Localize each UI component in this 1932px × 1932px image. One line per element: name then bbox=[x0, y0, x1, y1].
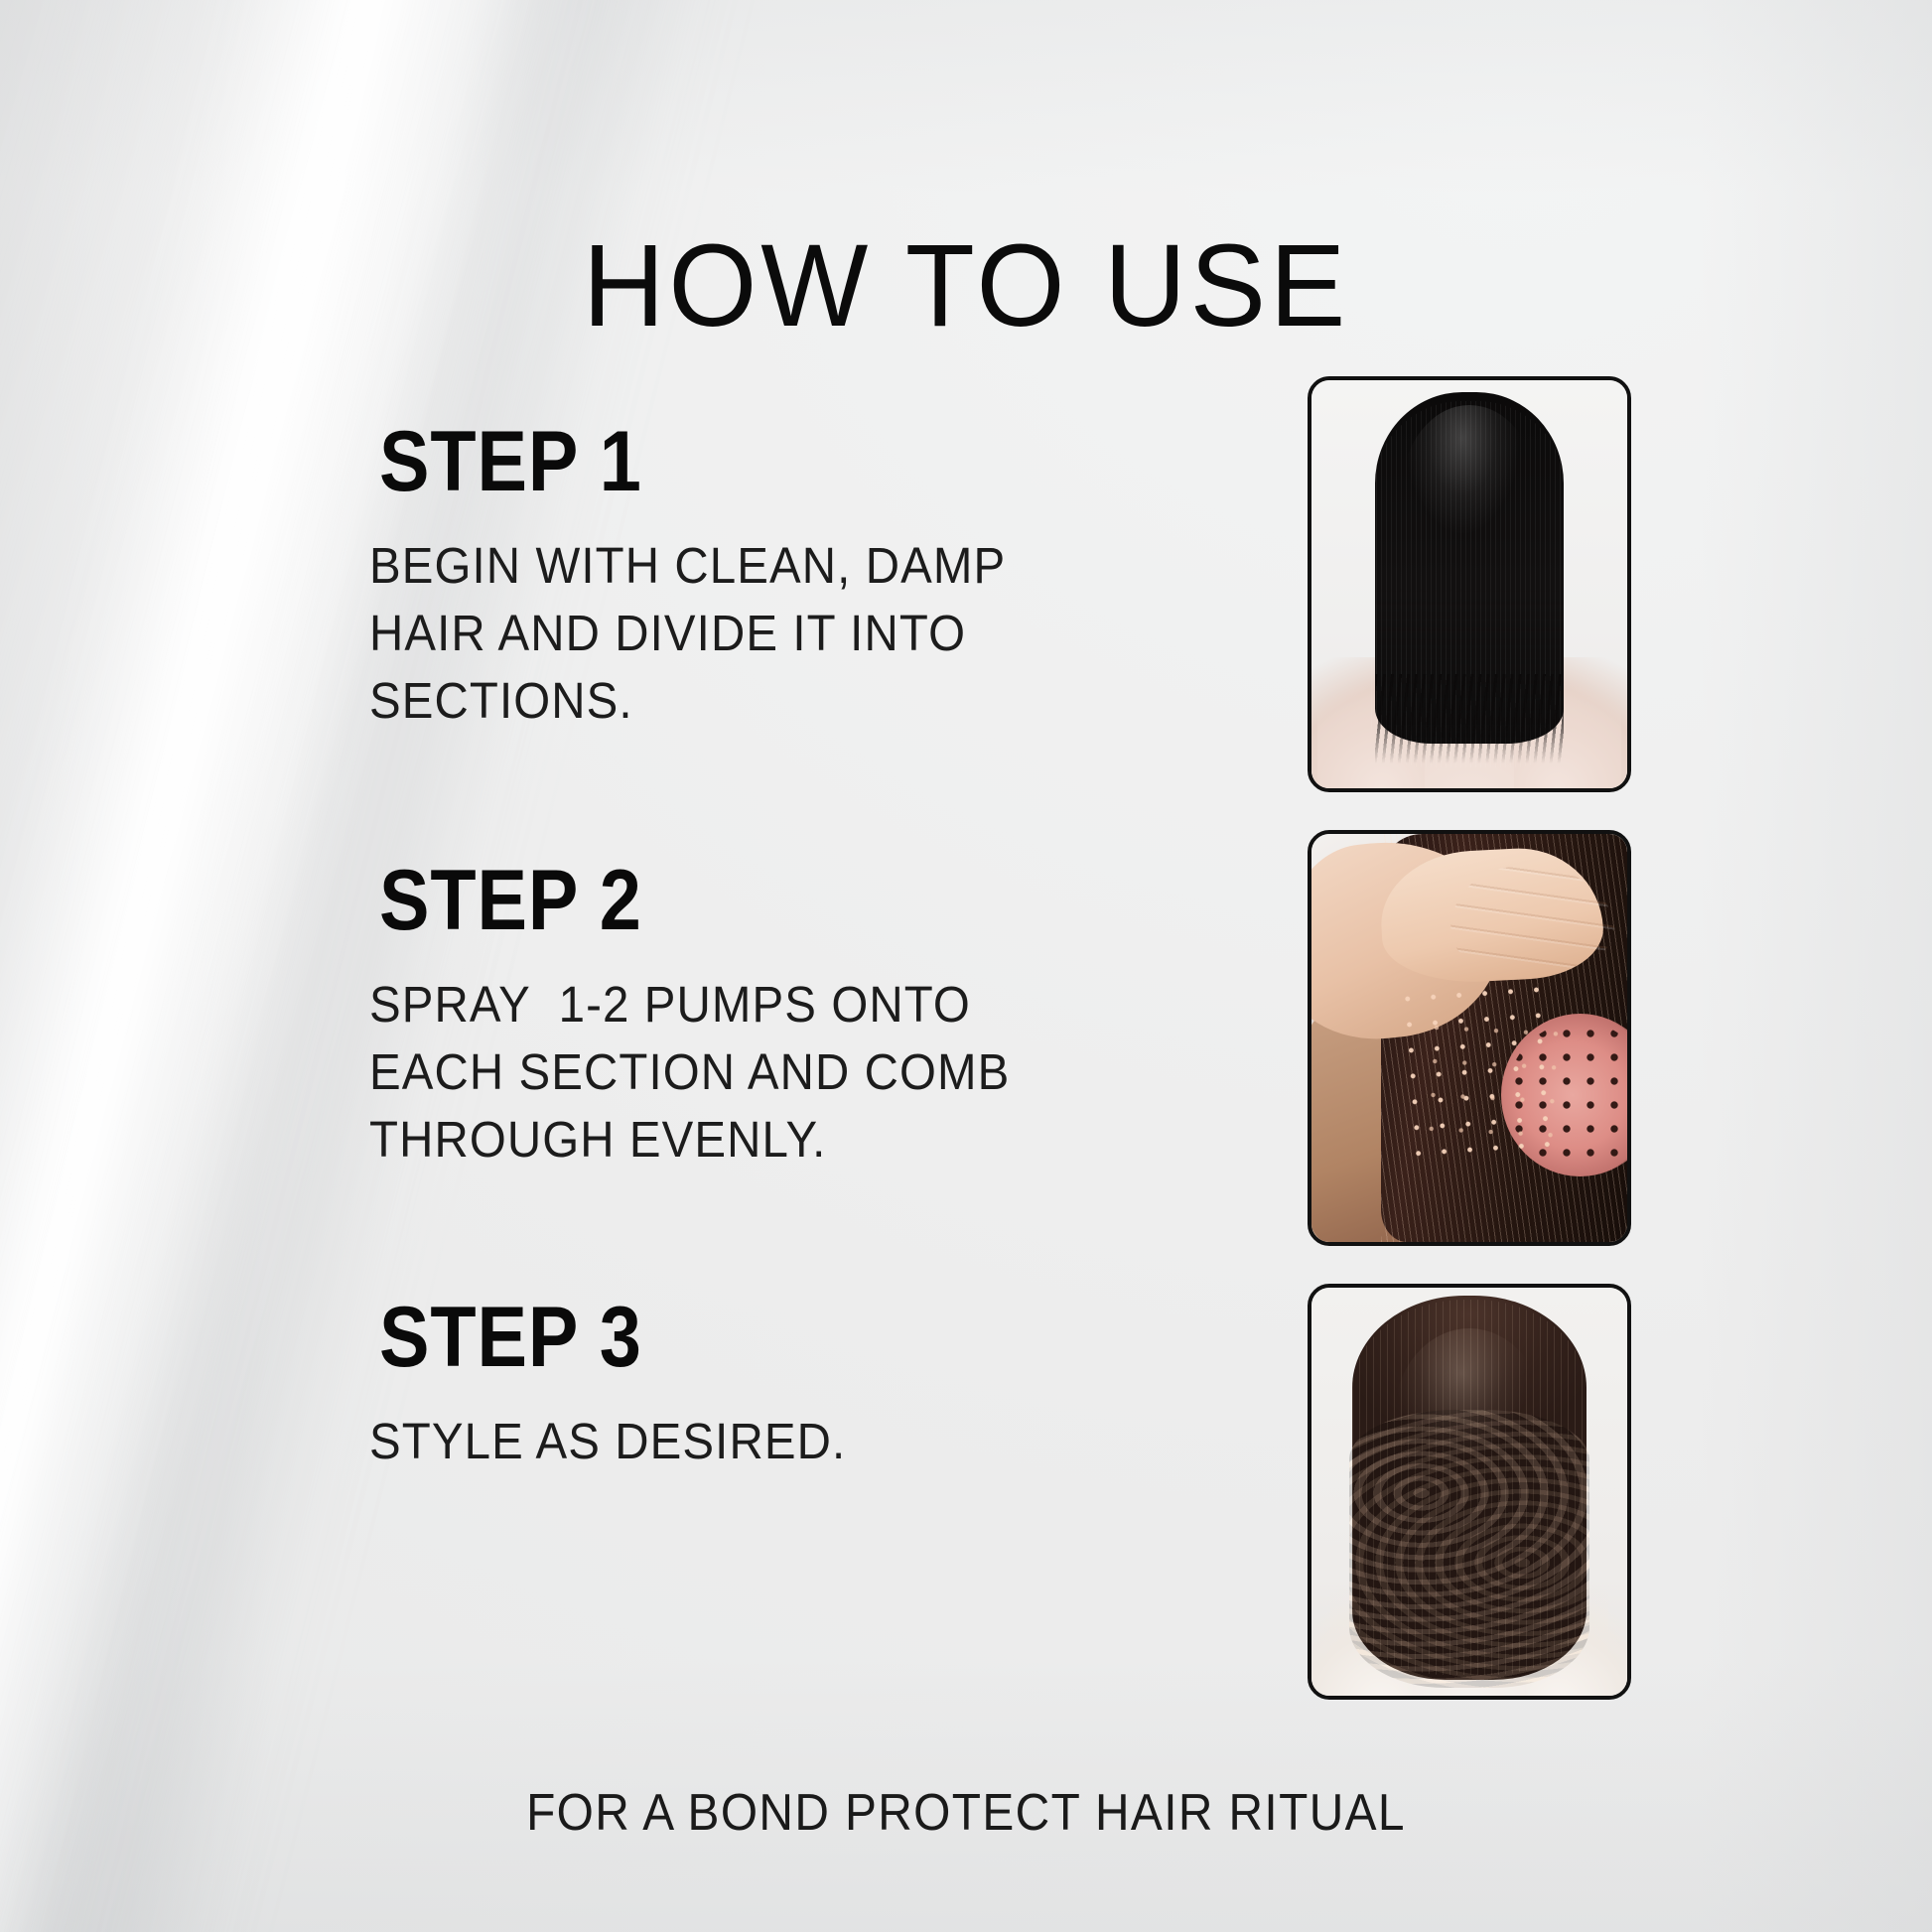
steps-list: STEP 1 BEGIN WITH CLEAN, DAMP HAIR AND D… bbox=[369, 417, 1124, 1475]
photo-frames bbox=[1308, 376, 1631, 1700]
step-1-line-3: SECTIONS. bbox=[369, 667, 1071, 735]
photo1-hair-sheen bbox=[1400, 405, 1539, 589]
step-1-line-1: BEGIN WITH CLEAN, DAMP bbox=[369, 532, 1071, 600]
photo2-water-droplets-secondary bbox=[1415, 1010, 1568, 1164]
step-2-line-3: THROUGH EVENLY. bbox=[369, 1106, 1071, 1173]
page-title: HOW TO USE bbox=[29, 227, 1903, 345]
photo-frame-step-3 bbox=[1308, 1284, 1631, 1700]
photo-styled-wavy-hair-image bbox=[1311, 1288, 1627, 1696]
photo3-hair-sheen bbox=[1394, 1328, 1546, 1508]
step-1-line-2: HAIR AND DIVIDE IT INTO bbox=[369, 600, 1071, 667]
step-1-body: BEGIN WITH CLEAN, DAMP HAIR AND DIVIDE I… bbox=[369, 532, 1071, 734]
step-2-line-1: SPRAY 1-2 PUMPS ONTO bbox=[369, 971, 1071, 1038]
photo-frame-step-2 bbox=[1308, 830, 1631, 1246]
photo1-hair-tips bbox=[1375, 674, 1565, 763]
step-item-2: STEP 2 SPRAY 1-2 PUMPS ONTO EACH SECTION… bbox=[369, 856, 1124, 1173]
photo-frame-step-1 bbox=[1308, 376, 1631, 792]
step-2-line-2: EACH SECTION AND COMB bbox=[369, 1038, 1071, 1106]
footer-tagline: FOR A BOND PROTECT HAIR RITUAL bbox=[77, 1783, 1855, 1843]
step-3-heading: STEP 3 bbox=[379, 1293, 1035, 1382]
how-to-use-poster: HOW TO USE STEP 1 BEGIN WITH CLEAN, DAMP… bbox=[0, 0, 1932, 1932]
photo-brushing-hair-image bbox=[1311, 834, 1627, 1242]
step-item-3: STEP 3 STYLE AS DESIRED. bbox=[369, 1293, 1124, 1475]
step-2-heading: STEP 2 bbox=[379, 856, 1035, 945]
step-1-heading: STEP 1 bbox=[379, 417, 1035, 506]
step-2-body: SPRAY 1-2 PUMPS ONTO EACH SECTION AND CO… bbox=[369, 971, 1071, 1173]
photo-wet-black-hair-image bbox=[1311, 380, 1627, 788]
step-3-body: STYLE AS DESIRED. bbox=[369, 1408, 1071, 1475]
step-item-1: STEP 1 BEGIN WITH CLEAN, DAMP HAIR AND D… bbox=[369, 417, 1124, 735]
step-3-line-1: STYLE AS DESIRED. bbox=[369, 1408, 1071, 1475]
